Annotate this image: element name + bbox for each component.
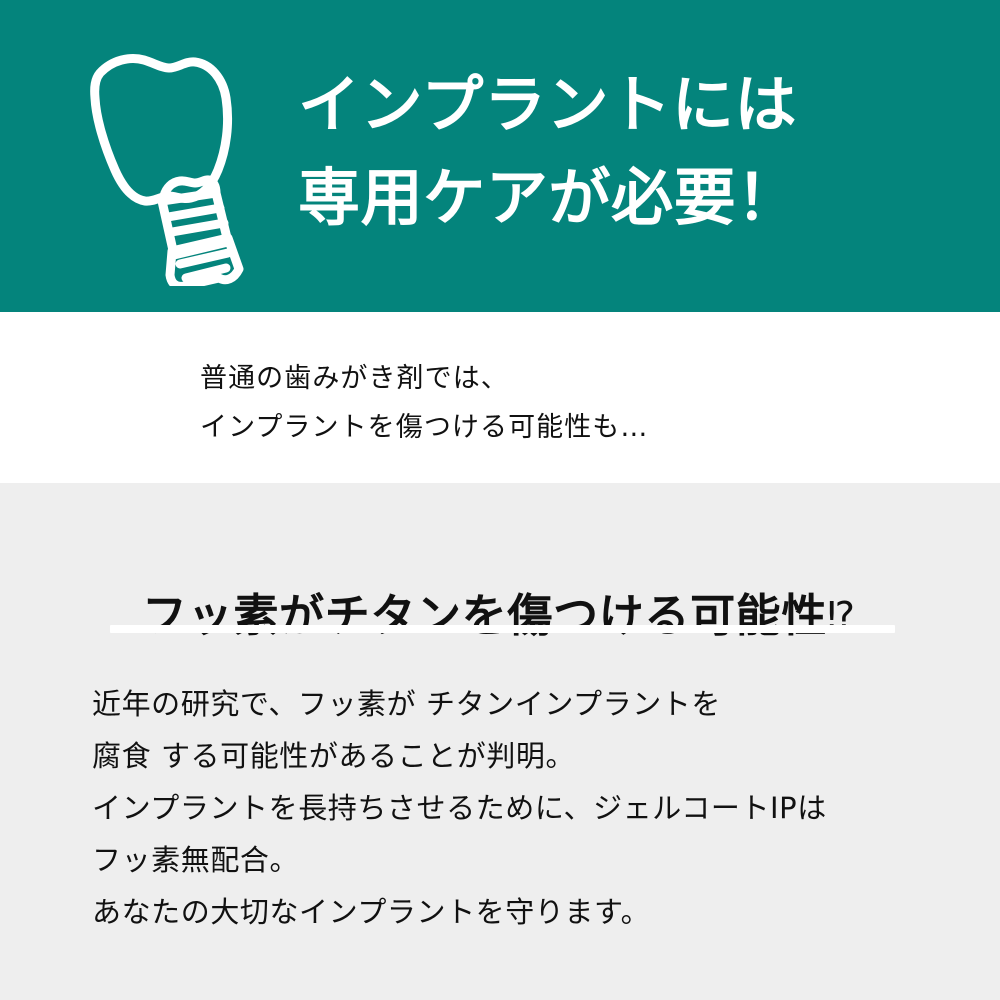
body-line-2: 腐食 する可能性があることが判明。 xyxy=(92,730,972,782)
hero-banner: インプラントには 専用ケアが必要！ xyxy=(0,0,1000,312)
lead-text-block: 普通の歯みがき剤では、 インプラントを傷つける可能性も… xyxy=(200,354,920,452)
hero-title-line-1: インプラントには xyxy=(298,58,938,151)
hero-title-line-2: 専用ケアが必要！ xyxy=(298,151,938,244)
body-copy-block: 近年の研究で、フッ素が チタンインプラントを 腐食 する可能性があることが判明。… xyxy=(92,678,972,938)
heading-divider xyxy=(110,625,895,633)
body-line-3: インプラントを長持ちさせるために、ジェルコートIPは xyxy=(92,782,972,834)
body-line-5: あなたの大切なインプラントを守ります。 xyxy=(92,886,972,938)
lead-section: 普通の歯みがき剤では、 インプラントを傷つける可能性も… xyxy=(0,312,1000,483)
section-heading: フッ素がチタンを傷つける可能性⁉ xyxy=(142,590,854,642)
lead-line-2: インプラントを傷つける可能性も… xyxy=(200,403,920,452)
hero-title: インプラントには 専用ケアが必要！ xyxy=(298,58,938,244)
dental-implant-icon xyxy=(68,46,258,286)
content-section: フッ素がチタンを傷つける可能性⁉ 近年の研究で、フッ素が チタンインプラントを … xyxy=(0,483,1000,1000)
body-line-1: 近年の研究で、フッ素が チタンインプラントを xyxy=(92,678,972,730)
section-heading-text: フッ素がチタンを傷つける可能性 xyxy=(142,589,827,642)
body-line-4: フッ素無配合。 xyxy=(92,834,972,886)
promotional-banner-page: インプラントには 専用ケアが必要！ 普通の歯みがき剤では、 インプラントを傷つけ… xyxy=(0,0,1000,1000)
lead-line-1: 普通の歯みがき剤では、 xyxy=(200,354,920,403)
